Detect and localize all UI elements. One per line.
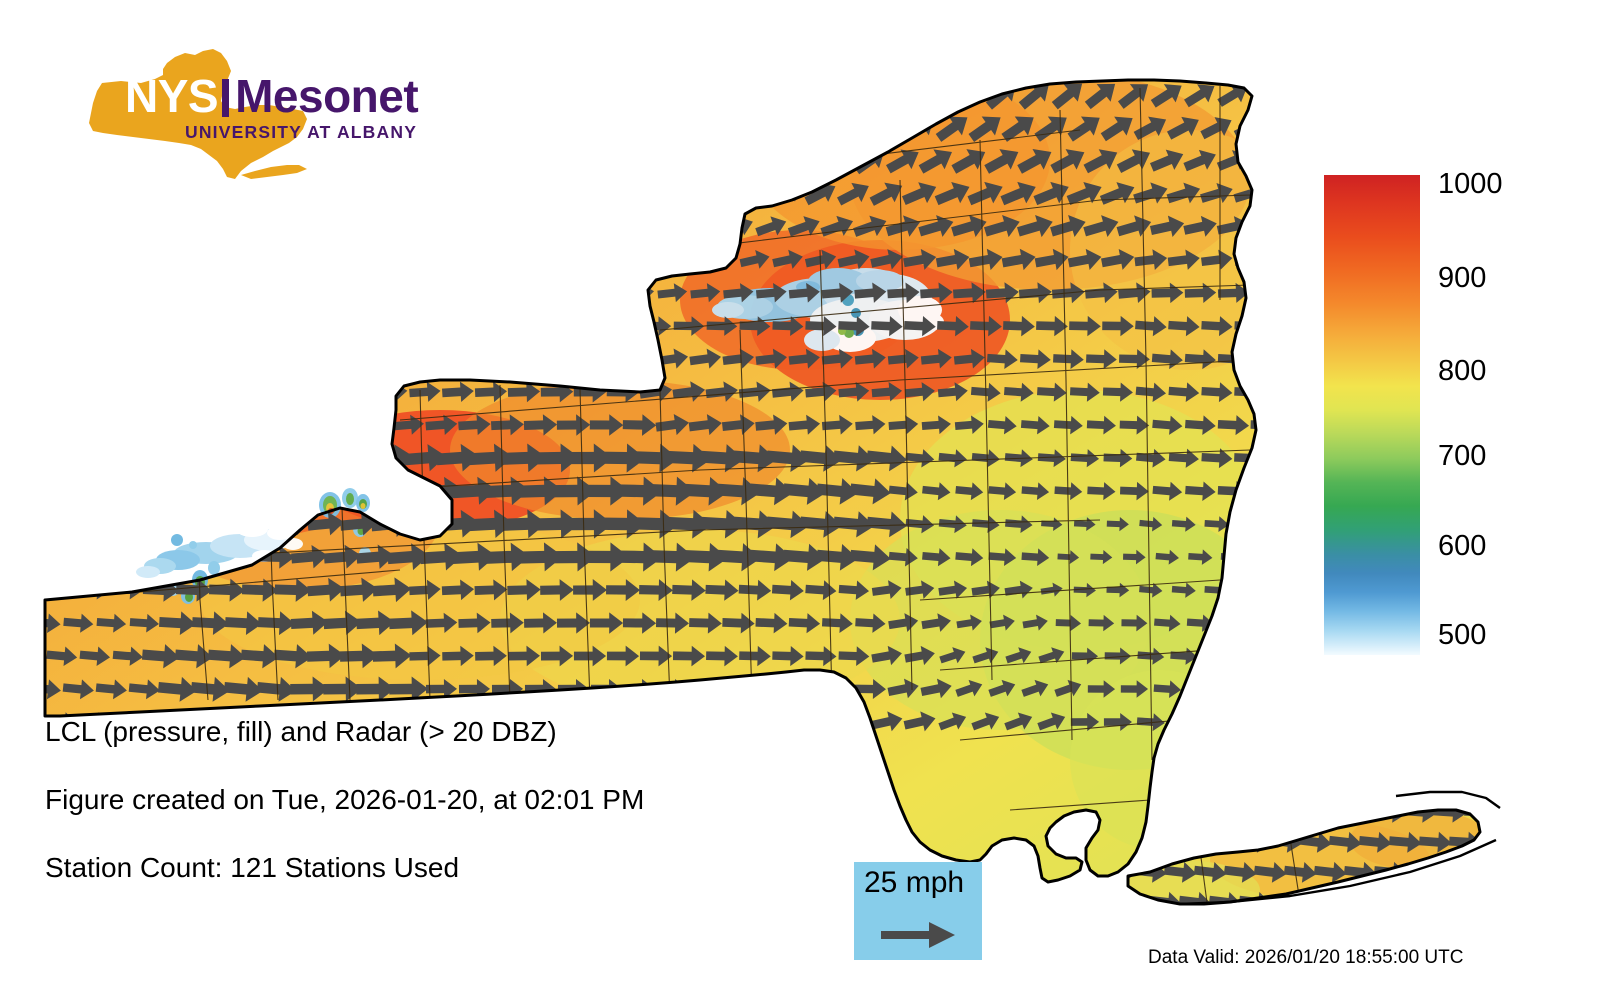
- wind-arrow: [30, 349, 61, 369]
- wind-arrow: [541, 646, 573, 667]
- wind-arrow: [225, 478, 262, 504]
- wind-arrow: [241, 245, 279, 274]
- wind-arrow: [755, 612, 788, 634]
- wind-arrow: [589, 77, 624, 111]
- wind-arrow: [525, 349, 557, 370]
- wind-arrow: [608, 316, 638, 336]
- wind-arrow: [325, 280, 360, 305]
- wind-arrow: [1223, 800, 1258, 825]
- wind-arrow: [1479, 831, 1512, 853]
- wind-arrow: [640, 248, 672, 272]
- wind-arrow: [1031, 176, 1073, 211]
- wind-arrow: [769, 109, 806, 146]
- wind-arrow: [756, 679, 787, 699]
- wind-arrow: [273, 643, 312, 670]
- wind-arrow: [436, 509, 481, 540]
- wind-arrow: [113, 580, 143, 600]
- wind-arrow: [175, 445, 212, 471]
- wind-arrow: [655, 213, 689, 241]
- wind-arrow: [452, 476, 497, 507]
- wind-arrow: [833, 509, 876, 539]
- wind-arrow: [771, 247, 805, 273]
- wind-arrow: [423, 212, 460, 242]
- wind-arrow: [256, 675, 297, 703]
- wind-arrow: [799, 509, 843, 540]
- wind-arrow: [804, 247, 839, 273]
- wind-arrow: [1434, 860, 1468, 883]
- wind-arrow: [1105, 647, 1132, 664]
- wind-arrow: [755, 413, 789, 436]
- wind-arrow: [160, 545, 196, 569]
- wind-arrow: [1268, 890, 1303, 915]
- wind-arrow: [239, 176, 281, 212]
- wind-arrow: [785, 143, 823, 178]
- wind-arrow: [1080, 142, 1122, 179]
- wind-arrow: [374, 246, 409, 273]
- wind-arrow: [721, 413, 755, 437]
- wind-arrow: [938, 514, 967, 534]
- wind-arrow: [113, 382, 144, 403]
- wind-arrow: [749, 475, 794, 506]
- wind-arrow: [1004, 579, 1034, 601]
- wind-arrow: [457, 212, 493, 241]
- wind-arrow: [558, 282, 590, 305]
- wind-arrow: [1018, 281, 1052, 304]
- wind-arrow: [1219, 613, 1247, 632]
- wind-arrow: [1165, 178, 1204, 209]
- wind-arrow: [1237, 515, 1263, 532]
- wind-arrow: [1238, 890, 1273, 915]
- wind-arrow: [1133, 860, 1168, 884]
- wind-arrow: [1201, 381, 1233, 403]
- wind-arrow: [949, 75, 990, 115]
- wind-arrow: [838, 579, 869, 601]
- wind-arrow: [1088, 614, 1114, 631]
- wind-arrow: [1252, 613, 1281, 632]
- wind-arrow: [1373, 800, 1407, 824]
- wind-arrow: [1021, 481, 1050, 501]
- wind-arrow: [556, 77, 591, 112]
- wind-arrow: [129, 613, 159, 634]
- wind-arrow: [722, 347, 755, 371]
- wind-arrow: [193, 545, 229, 569]
- wind-arrow: [871, 381, 903, 403]
- wind-arrow: [1053, 348, 1084, 369]
- wind-arrow: [1015, 75, 1057, 115]
- wind-arrow: [159, 610, 197, 636]
- wind-arrow: [1004, 448, 1033, 468]
- wind-arrow: [1217, 414, 1249, 436]
- wind-arrow: [838, 646, 869, 667]
- wind-arrow: [1298, 890, 1333, 915]
- wind-arrow: [525, 282, 557, 305]
- wind-arrow: [883, 75, 923, 114]
- wind-arrow: [473, 111, 509, 145]
- wind-arrow: [292, 280, 327, 306]
- wind-arrow: [356, 211, 395, 242]
- wind-arrow: [523, 145, 558, 177]
- wind-arrow: [1223, 860, 1258, 885]
- wind-arrow: [176, 578, 213, 603]
- wind-arrow: [1070, 382, 1101, 403]
- wind-speed-key: 25 mph: [854, 862, 982, 960]
- wind-arrow: [558, 679, 589, 699]
- wind-arrow: [772, 645, 804, 666]
- wind-arrow: [508, 381, 541, 403]
- wind-arrow: [919, 676, 953, 702]
- wind-arrow: [1168, 447, 1199, 469]
- wind-arrow: [419, 476, 464, 507]
- wind-arrow: [1250, 480, 1283, 502]
- wind-arrow: [241, 445, 279, 472]
- wind-arrow: [1252, 679, 1280, 698]
- wind-arrow: [63, 612, 94, 634]
- wind-arrow: [1137, 646, 1165, 665]
- wind-arrow: [356, 676, 395, 701]
- wind-arrow: [241, 511, 278, 537]
- wind-arrow: [1172, 516, 1197, 533]
- wind-arrow: [1119, 349, 1150, 370]
- wind-arrow: [799, 443, 843, 474]
- wind-arrow: [143, 578, 180, 603]
- wind-arrow: [935, 246, 971, 273]
- wind-arrow: [1449, 831, 1483, 854]
- wind-arrow: [44, 246, 80, 274]
- wind-arrow: [755, 282, 787, 304]
- wind-arrow: [639, 579, 673, 602]
- wind-arrow: [688, 213, 723, 241]
- wind-arrow: [802, 177, 841, 211]
- wind-arrow: [456, 144, 493, 177]
- nys-mesonet-logo: NYSMesonet UNIVERSITY AT ALBANY: [45, 45, 415, 180]
- wind-arrow: [372, 643, 411, 669]
- wind-arrow: [1186, 679, 1214, 698]
- wind-arrow: [1152, 414, 1183, 436]
- wind-arrow: [256, 210, 297, 243]
- wind-arrow: [157, 675, 198, 704]
- wind-arrow: [672, 379, 707, 404]
- wind-arrow: [705, 579, 739, 602]
- wind-arrow: [61, 280, 96, 305]
- wind-arrow: [442, 645, 474, 666]
- wind-arrow: [1118, 890, 1152, 914]
- wind-arrow: [916, 75, 957, 115]
- wind-arrow: [955, 547, 984, 567]
- wind-arrow: [277, 381, 308, 403]
- wind-arrow: [1054, 481, 1083, 501]
- wind-arrow: [822, 612, 854, 633]
- wind-arrow: [655, 77, 690, 112]
- wind-arrow: [62, 678, 95, 701]
- wind-arrow: [969, 708, 1002, 735]
- wind-arrow: [722, 612, 755, 634]
- wind-arrow: [821, 414, 853, 436]
- wind-arrow: [689, 347, 723, 371]
- wind-arrow: [323, 211, 363, 243]
- wind-arrow: [540, 179, 575, 209]
- wind-arrow: [492, 679, 523, 699]
- wind-arrow: [606, 111, 640, 144]
- wind-arrow: [142, 245, 180, 274]
- wind-arrow: [1203, 712, 1232, 732]
- wind-arrow: [207, 643, 246, 670]
- wind-arrow: [887, 282, 920, 305]
- wind-arrow: [260, 348, 292, 370]
- wind-arrow: [673, 645, 705, 666]
- wind-arrow: [29, 281, 63, 305]
- wind-arrow: [475, 315, 506, 336]
- wind-arrow: [1035, 708, 1068, 735]
- wind-arrow: [524, 414, 558, 436]
- wind-arrow: [706, 645, 738, 666]
- wind-arrow: [1358, 890, 1392, 914]
- wind-arrow: [871, 315, 903, 337]
- wind-arrow: [409, 579, 441, 601]
- wind-arrow: [937, 315, 969, 337]
- wind-arrow: [1198, 179, 1236, 209]
- wind-arrow: [753, 212, 789, 242]
- wind-arrow: [988, 547, 1017, 567]
- wind-arrow: [1118, 281, 1152, 304]
- wind-arrow: [832, 443, 875, 473]
- wind-arrow: [899, 176, 940, 211]
- wind-arrow: [162, 415, 192, 436]
- wind-arrow: [1388, 830, 1422, 854]
- wind-arrow: [1208, 830, 1243, 855]
- wind-arrow: [508, 247, 541, 272]
- wind-arrow: [953, 281, 987, 304]
- wind-arrow: [1373, 860, 1407, 884]
- wind-arrow: [339, 177, 379, 211]
- wind-arrow: [771, 380, 804, 403]
- wind-arrow: [884, 211, 923, 242]
- wind-arrow: [80, 382, 111, 403]
- wind-arrow: [1037, 448, 1066, 468]
- wind-arrow: [442, 315, 474, 336]
- wind-arrow: [387, 476, 431, 507]
- wind-arrow: [1217, 480, 1249, 502]
- wind-arrow: [425, 281, 458, 305]
- colorbar-tick-500: 500: [1438, 621, 1486, 650]
- wind-arrow: [157, 210, 198, 244]
- wind-arrow: [1268, 830, 1303, 855]
- wind-arrow: [211, 315, 244, 338]
- wind-arrow: [469, 443, 514, 474]
- wind-arrow: [816, 542, 859, 572]
- wind-arrow: [1148, 890, 1183, 914]
- wind-arrow: [737, 110, 773, 146]
- wind-arrow: [308, 246, 345, 274]
- logo-nys-text: NYS: [125, 70, 218, 122]
- wind-arrow: [1193, 800, 1228, 825]
- wind-arrow: [671, 111, 706, 145]
- wind-arrow: [1139, 516, 1163, 533]
- wind-arrow: [1253, 860, 1288, 885]
- wind-arrow: [80, 514, 109, 534]
- wind-arrow: [834, 108, 873, 147]
- wind-arrow: [506, 111, 541, 144]
- wind-arrow: [624, 349, 656, 370]
- wind-arrow: [1118, 830, 1152, 854]
- wind-arrow: [30, 481, 60, 501]
- wind-arrow: [1100, 246, 1136, 273]
- wind-arrow: [783, 542, 827, 572]
- wind-arrow: [74, 176, 115, 211]
- wind-arrow: [1419, 830, 1453, 853]
- wind-arrow: [1198, 111, 1237, 145]
- wind-arrow: [436, 443, 481, 474]
- wind-arrow: [805, 646, 837, 667]
- wind-arrow: [1234, 315, 1266, 336]
- wind-arrow: [567, 509, 613, 539]
- wind-arrow: [244, 381, 275, 403]
- wind-arrow: [1434, 800, 1468, 823]
- wind-arrow: [904, 579, 935, 601]
- wind-arrow: [1283, 860, 1318, 885]
- wind-arrow: [1056, 614, 1082, 631]
- wind-arrow: [1153, 679, 1181, 698]
- wind-arrow: [818, 75, 856, 114]
- wind-arrow: [589, 213, 623, 241]
- wind-arrow: [1151, 282, 1183, 303]
- wind-arrow: [1022, 613, 1049, 633]
- wind-arrow: [922, 481, 952, 502]
- wind-arrow: [1106, 582, 1129, 597]
- wind-arrow: [786, 212, 823, 243]
- wind-arrow: [1087, 415, 1117, 435]
- wind-arrow: [855, 679, 886, 699]
- wind-arrow: [1047, 142, 1090, 179]
- wind-arrow: [1147, 76, 1187, 113]
- wind-arrow: [1104, 713, 1132, 731]
- wind-arrow: [409, 381, 442, 403]
- wind-arrow: [888, 547, 918, 568]
- wind-arrow: [869, 246, 905, 273]
- wind-arrow: [633, 443, 679, 473]
- wind-arrow: [591, 349, 623, 369]
- wind-arrow: [655, 145, 690, 177]
- wind-arrow: [1103, 800, 1137, 824]
- wind-arrow: [802, 109, 840, 147]
- wind-arrow: [739, 645, 771, 666]
- wind-arrow: [573, 179, 607, 208]
- wind-arrow: [1358, 830, 1392, 854]
- wind-arrow: [507, 579, 541, 601]
- colorbar-tick-900: 900: [1438, 264, 1486, 293]
- colorbar-tick-1000: 1000: [1438, 170, 1503, 199]
- colorbar-gradient: [1324, 175, 1420, 655]
- wind-arrow: [145, 315, 178, 337]
- wind-arrow: [359, 348, 391, 370]
- wind-arrow: [226, 545, 262, 569]
- wind-arrow: [1069, 315, 1101, 336]
- wind-arrow: [274, 245, 311, 274]
- wind-arrow: [641, 316, 671, 336]
- wind-arrow: [1234, 381, 1266, 403]
- wind-arrow: [704, 110, 740, 145]
- wind-arrow: [96, 415, 126, 435]
- wind-arrow: [1236, 712, 1264, 731]
- wind-arrow: [356, 543, 396, 570]
- figure-annotations: LCL (pressure, fill) and Radar (> 20 DBZ…: [45, 718, 805, 922]
- wind-arrow: [258, 610, 296, 636]
- wind-arrow: [209, 578, 246, 602]
- wind-arrow: [1216, 213, 1252, 240]
- wind-arrow: [1201, 315, 1233, 337]
- wind-arrow: [1154, 614, 1182, 633]
- wind-arrow: [1004, 381, 1035, 402]
- wind-arrow: [274, 444, 313, 471]
- wind-arrow: [855, 612, 886, 633]
- wind-arrow: [96, 348, 127, 369]
- wind-arrow: [699, 508, 745, 539]
- wind-arrow: [47, 514, 77, 534]
- wind-arrow: [409, 646, 441, 667]
- wind-arrow: [551, 476, 597, 506]
- wind-arrow: [639, 179, 673, 209]
- wind-arrow: [666, 443, 712, 474]
- wind-arrow: [1403, 800, 1437, 824]
- wind-arrow: [439, 110, 476, 145]
- wind-arrow: [502, 443, 547, 473]
- wind-arrow: [633, 509, 679, 540]
- wind-arrow: [838, 712, 869, 733]
- wind-arrow: [294, 414, 325, 436]
- wind-arrow: [47, 382, 78, 402]
- wind-arrow: [1170, 646, 1198, 665]
- wind-arrow: [655, 412, 691, 438]
- wind-arrow: [1201, 447, 1233, 469]
- wind-arrow: [557, 414, 591, 436]
- wind-arrow: [606, 579, 640, 601]
- wind-arrow: [1090, 549, 1113, 564]
- wind-arrow: [568, 443, 613, 472]
- wind-arrow: [954, 415, 984, 436]
- wind-arrow: [723, 282, 755, 304]
- wind-arrow: [370, 509, 414, 539]
- wind-arrow: [1067, 246, 1104, 273]
- wind-speed-key-label: 25 mph: [864, 868, 964, 898]
- wind-arrow: [673, 248, 705, 273]
- wind-arrow: [938, 448, 968, 469]
- wind-arrow: [968, 246, 1005, 273]
- wind-arrow: [95, 678, 128, 701]
- wind-arrow: [359, 414, 391, 436]
- wind-arrow: [1214, 77, 1253, 112]
- wind-arrow: [556, 213, 590, 241]
- wind-arrow: [1107, 516, 1130, 531]
- wind-arrow: [179, 381, 210, 402]
- wind-arrow: [419, 542, 463, 572]
- wind-arrow: [937, 381, 968, 403]
- wind-arrow: [869, 709, 904, 736]
- wind-arrow: [289, 210, 329, 243]
- wind-arrow: [851, 75, 890, 115]
- wind-arrow: [786, 76, 823, 114]
- wind-arrow: [1115, 211, 1155, 242]
- wind-arrow: [650, 542, 696, 573]
- wind-arrow: [981, 142, 1024, 180]
- wind-arrow: [26, 211, 65, 243]
- wind-arrow: [998, 108, 1041, 148]
- wind-arrow: [738, 247, 771, 272]
- wind-arrow: [372, 576, 412, 603]
- wind-arrow: [195, 415, 225, 436]
- wind-arrow: [1004, 644, 1034, 668]
- wind-arrow: [506, 179, 541, 209]
- wind-arrow: [1181, 77, 1220, 113]
- wind-arrow: [1139, 582, 1163, 599]
